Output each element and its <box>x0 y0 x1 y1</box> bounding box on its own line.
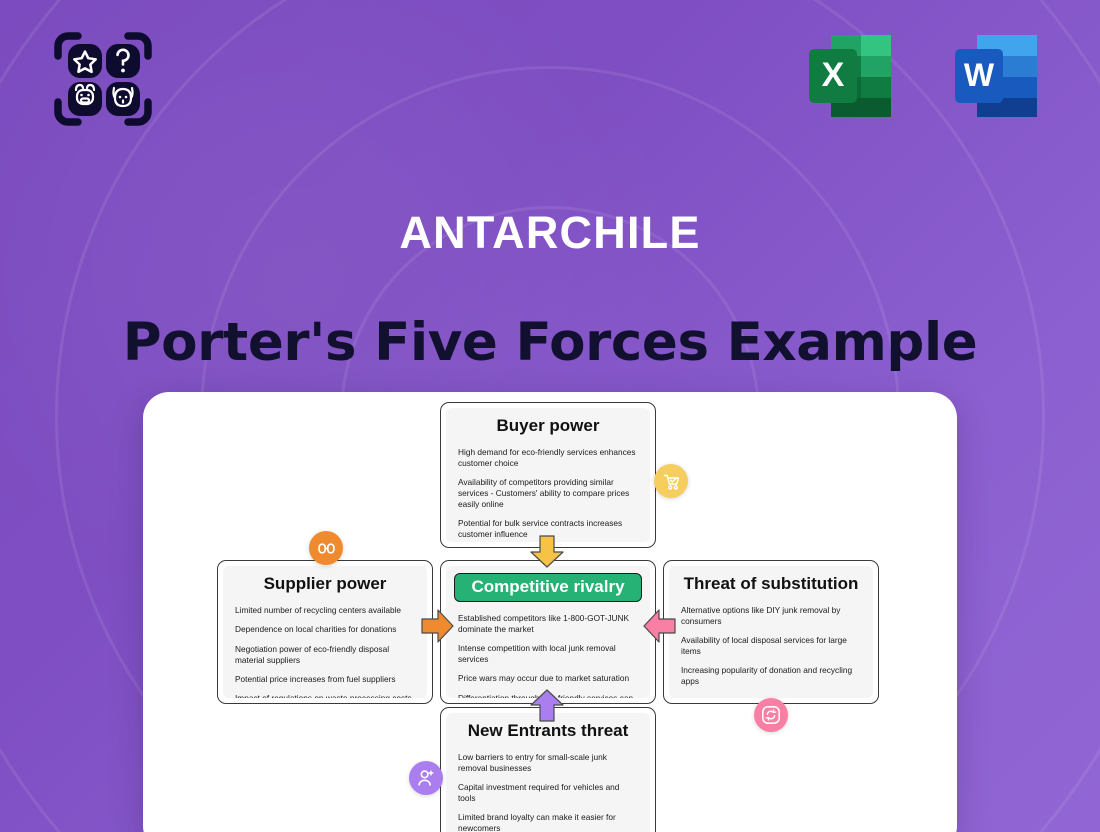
force-inner-substitution: Threat of substitution Alternative optio… <box>669 566 873 698</box>
list-item: Limited brand loyalty can make it easier… <box>458 812 638 832</box>
brand-title: ANTARCHILE <box>0 207 1100 259</box>
list-item: Established competitors like 1-800-GOT-J… <box>458 613 638 635</box>
svg-text:W: W <box>964 57 995 93</box>
force-inner-supplier: Supplier power Limited number of recycli… <box>223 566 427 698</box>
word-icon[interactable]: W <box>947 27 1045 125</box>
slide-canvas: X W ANTARCHILE Porter's Five Forces Exam… <box>0 0 1100 832</box>
force-title-threat-of-substitution: Threat of substitution <box>681 575 861 594</box>
add-user-icon[interactable] <box>409 761 443 795</box>
shopping-cart-icon[interactable] <box>654 464 688 498</box>
force-box-threat-of-substitution[interactable]: Threat of substitution Alternative optio… <box>663 560 879 704</box>
force-title-competitive-rivalry: Competitive rivalry <box>454 573 642 602</box>
arrow-entrants-to-rivalry <box>529 688 565 722</box>
force-points-buyer: High demand for eco-friendly services en… <box>458 447 638 542</box>
arrow-buyer-to-rivalry <box>529 535 565 569</box>
arrow-substitution-to-rivalry <box>642 608 676 644</box>
list-item: Alternative options like DIY junk remova… <box>681 605 861 627</box>
force-points-rivalry: Established competitors like 1-800-GOT-J… <box>458 613 638 698</box>
force-box-competitive-rivalry[interactable]: Competitive rivalry Established competit… <box>440 560 656 704</box>
list-item: High demand for eco-friendly services en… <box>458 447 638 469</box>
list-item: Impact of regulations on waste processin… <box>235 693 415 698</box>
list-item: Price wars may occur due to market satur… <box>458 673 638 684</box>
force-box-supplier[interactable]: Supplier power Limited number of recycli… <box>217 560 433 704</box>
list-item: Increasing popularity of donation and re… <box>681 665 861 687</box>
list-item: Capital investment required for vehicles… <box>458 782 638 804</box>
force-title-buyer: Buyer power <box>458 417 638 436</box>
list-item: Availability of competitors providing si… <box>458 477 638 510</box>
list-item: Dependence on local charities for donati… <box>235 624 415 635</box>
excel-icon[interactable]: X <box>801 27 899 125</box>
force-inner-entrants: New Entrants threat Low barriers to entr… <box>446 713 650 832</box>
five-forces-diagram: Buyer power High demand for eco-friendly… <box>143 392 957 832</box>
list-item: Limited number of recycling centers avai… <box>235 605 415 616</box>
force-points-supplier: Limited number of recycling centers avai… <box>235 605 415 698</box>
list-item: Availability of local disposal services … <box>681 635 861 657</box>
diagram-card: Buyer power High demand for eco-friendly… <box>143 392 957 832</box>
force-inner-rivalry: Competitive rivalry Established competit… <box>446 566 650 698</box>
list-item: Intense competition with local junk remo… <box>458 643 638 665</box>
list-item: Low barriers to entry for small-scale ju… <box>458 752 638 774</box>
force-points-substitution: Alternative options like DIY junk remova… <box>681 605 861 698</box>
force-box-new-entrants-threat[interactable]: New Entrants threat Low barriers to entr… <box>440 707 656 832</box>
force-points-entrants: Low barriers to entry for small-scale ju… <box>458 752 638 832</box>
brand-logo <box>50 26 156 132</box>
app-icon-group: X W <box>801 27 1045 125</box>
sync-icon[interactable] <box>754 698 788 732</box>
svg-text:X: X <box>822 56 845 94</box>
force-box-buyer[interactable]: Buyer power High demand for eco-friendly… <box>440 402 656 548</box>
force-title-new-entrants-threat: New Entrants threat <box>458 722 638 741</box>
arrow-supplier-to-rivalry <box>421 608 455 644</box>
list-item: Negotiation power of eco-friendly dispos… <box>235 644 415 666</box>
pet-quiz-logo-icon <box>50 26 156 132</box>
force-inner-buyer: Buyer power High demand for eco-friendly… <box>446 408 650 542</box>
force-title-supplier: Supplier power <box>235 575 415 594</box>
link-icon[interactable] <box>309 531 343 565</box>
list-item: Potential price increases from fuel supp… <box>235 674 415 685</box>
page-title: Porter's Five Forces Example <box>0 312 1100 373</box>
